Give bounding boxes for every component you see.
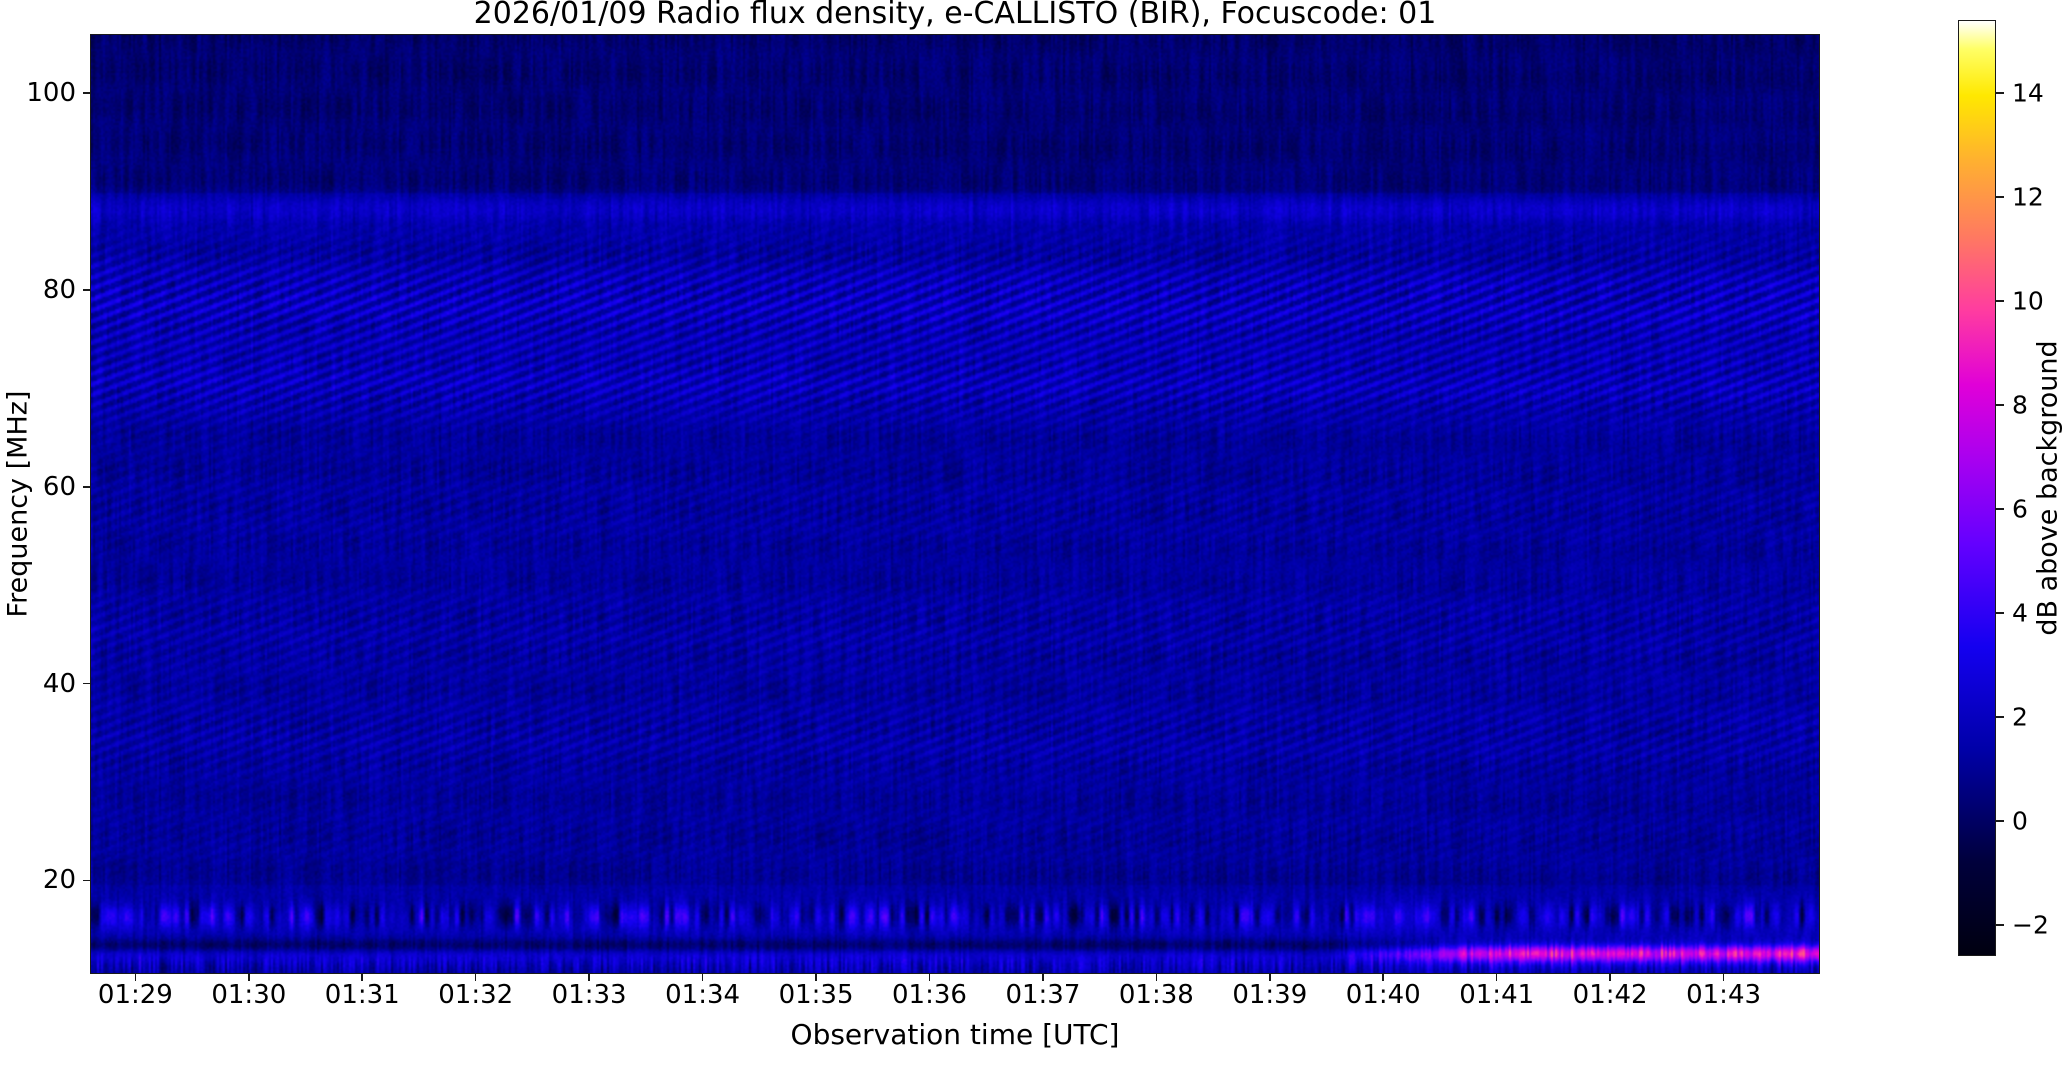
colorbar-tick-mark (1996, 92, 2004, 94)
colorbar-tick-mark (1996, 196, 2004, 198)
x-tick-label: 01:43 (1686, 980, 1761, 1010)
y-tick-label: 20 (0, 867, 76, 893)
x-tick-label: 01:29 (98, 980, 173, 1010)
y-axis-label: Frequency [MHz] (0, 34, 36, 974)
colorbar-tick-mark (1996, 716, 2004, 718)
colorbar-tick-label: 0 (2012, 808, 2028, 833)
x-tick-mark (702, 974, 704, 981)
x-tick-mark (248, 974, 250, 981)
x-tick-label: 01:33 (552, 980, 627, 1010)
colorbar-tick-mark (1996, 612, 2004, 614)
y-axis-label-text: Frequency [MHz] (3, 391, 34, 618)
x-tick-label: 01:40 (1346, 980, 1421, 1010)
x-tick-label: 01:36 (892, 980, 967, 1010)
colorbar (1958, 20, 1996, 956)
y-tick-label: 100 (0, 80, 76, 106)
spectrogram-figure: 2026/01/09 Radio flux density, e-CALLIST… (0, 0, 2066, 1067)
y-tick-mark (83, 880, 90, 882)
colorbar-tick-label: 8 (2012, 392, 2028, 417)
colorbar-tick-mark (1996, 404, 2004, 406)
x-tick-mark (1382, 974, 1384, 981)
spectrogram-heatmap (91, 35, 1820, 974)
x-tick-label: 01:34 (665, 980, 740, 1010)
y-tick-mark (83, 486, 90, 488)
x-tick-mark (588, 974, 590, 981)
x-tick-mark (361, 974, 363, 981)
colorbar-tick-mark (1996, 924, 2004, 926)
y-tick-mark (83, 683, 90, 685)
colorbar-tick-label: 2 (2012, 704, 2028, 729)
x-tick-mark (1723, 974, 1725, 981)
colorbar-gradient (1959, 21, 1995, 955)
x-tick-label: 01:37 (1005, 980, 1080, 1010)
x-axis-label: Observation time [UTC] (90, 1018, 1820, 1051)
x-tick-label: 01:38 (1119, 980, 1194, 1010)
y-tick-label: 80 (0, 277, 76, 303)
x-tick-label: 01:42 (1573, 980, 1648, 1010)
colorbar-label: dB above background (2030, 20, 2066, 956)
colorbar-tick-mark (1996, 820, 2004, 822)
x-tick-mark (1609, 974, 1611, 981)
y-tick-label: 40 (0, 671, 76, 697)
colorbar-tick-label: 4 (2012, 600, 2028, 625)
page-title: 2026/01/09 Radio flux density, e-CALLIST… (90, 0, 1820, 32)
colorbar-label-text: dB above background (2033, 340, 2064, 635)
x-tick-label: 01:35 (779, 980, 854, 1010)
plot-area (90, 34, 1820, 974)
x-tick-label: 01:30 (211, 980, 286, 1010)
colorbar-tick-mark (1996, 300, 2004, 302)
x-tick-mark (929, 974, 931, 981)
x-tick-label: 01:41 (1459, 980, 1534, 1010)
x-tick-mark (1496, 974, 1498, 981)
x-tick-label: 01:32 (438, 980, 513, 1010)
x-tick-mark (815, 974, 817, 981)
x-tick-mark (1156, 974, 1158, 981)
colorbar-tick-mark (1996, 508, 2004, 510)
x-tick-mark (475, 974, 477, 981)
y-tick-label: 60 (0, 474, 76, 500)
colorbar-tick-label: 6 (2012, 496, 2028, 521)
x-tick-mark (1042, 974, 1044, 981)
x-tick-label: 01:31 (325, 980, 400, 1010)
x-tick-label: 01:39 (1232, 980, 1307, 1010)
x-tick-mark (1269, 974, 1271, 981)
y-tick-mark (83, 92, 90, 94)
x-tick-mark (135, 974, 137, 981)
y-tick-mark (83, 289, 90, 291)
